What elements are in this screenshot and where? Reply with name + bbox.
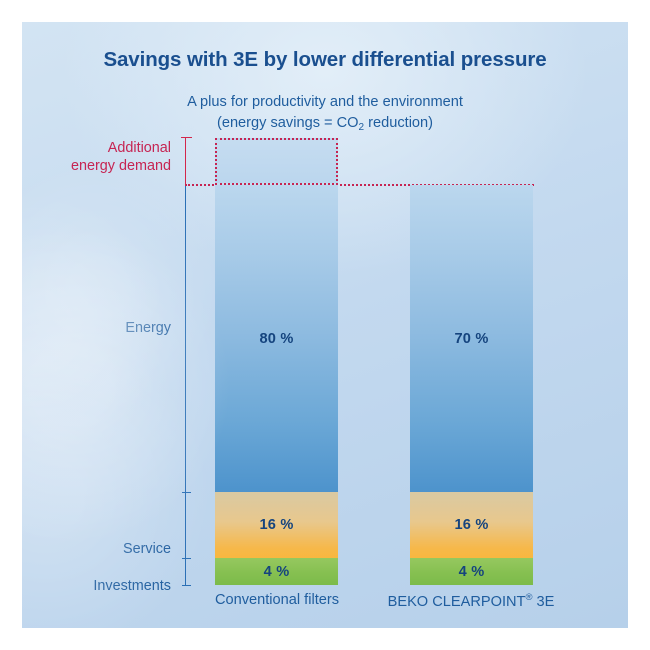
chart-panel: Savings with 3E by lower differential pr…	[22, 22, 628, 628]
axis-label-additional-line-1: Additional	[108, 140, 171, 156]
category-label-beko-name: BEKO CLEARPOINT	[388, 594, 526, 610]
category-label-conventional-filters: Conventional filters	[182, 592, 372, 608]
bar-segment-service: 16 %	[215, 492, 338, 558]
bar-value-energy: 70 %	[410, 331, 533, 347]
bar-value-energy: 80 %	[215, 331, 338, 347]
category-label-beko-tail: 3E	[532, 594, 554, 610]
axis-tick-energy-service	[182, 492, 191, 493]
bar-beko-clearpoint-3e[interactable]: 70 % 16 % 4 %	[410, 185, 533, 585]
bar-segment-investments: 4 %	[410, 558, 533, 585]
additional-demand-block	[215, 138, 338, 185]
bar-segment-energy: 80 %	[215, 185, 338, 492]
plot-area: Additional energy demand Energy Service …	[22, 22, 628, 628]
bar-value-investments: 4 %	[410, 564, 533, 580]
bar-value-service: 16 %	[215, 517, 338, 533]
bracket-top-cap	[181, 137, 192, 138]
axis-tick-baseline	[182, 585, 191, 586]
axis-label-additional-energy-demand: Additional energy demand	[1, 139, 171, 175]
bar-segment-service: 16 %	[410, 492, 533, 558]
bar-segment-investments: 4 %	[215, 558, 338, 585]
bar-conventional-filters[interactable]: 80 % 16 % 4 %	[215, 185, 338, 585]
axis-tick-service-investments	[182, 558, 191, 559]
bar-value-investments: 4 %	[215, 564, 338, 580]
additional-demand-bracket	[185, 138, 186, 185]
axis-label-service: Service	[1, 540, 171, 558]
axis-label-investments: Investments	[1, 577, 171, 595]
category-label-beko-clearpoint-3e: BEKO CLEARPOINT® 3E	[376, 592, 566, 610]
vertical-axis-line	[185, 185, 186, 585]
bar-segment-energy: 70 %	[410, 185, 533, 492]
bar-value-service: 16 %	[410, 517, 533, 533]
axis-label-additional-line-2: energy demand	[71, 158, 171, 174]
axis-label-energy: Energy	[1, 319, 171, 337]
chart-canvas: Savings with 3E by lower differential pr…	[0, 0, 650, 650]
